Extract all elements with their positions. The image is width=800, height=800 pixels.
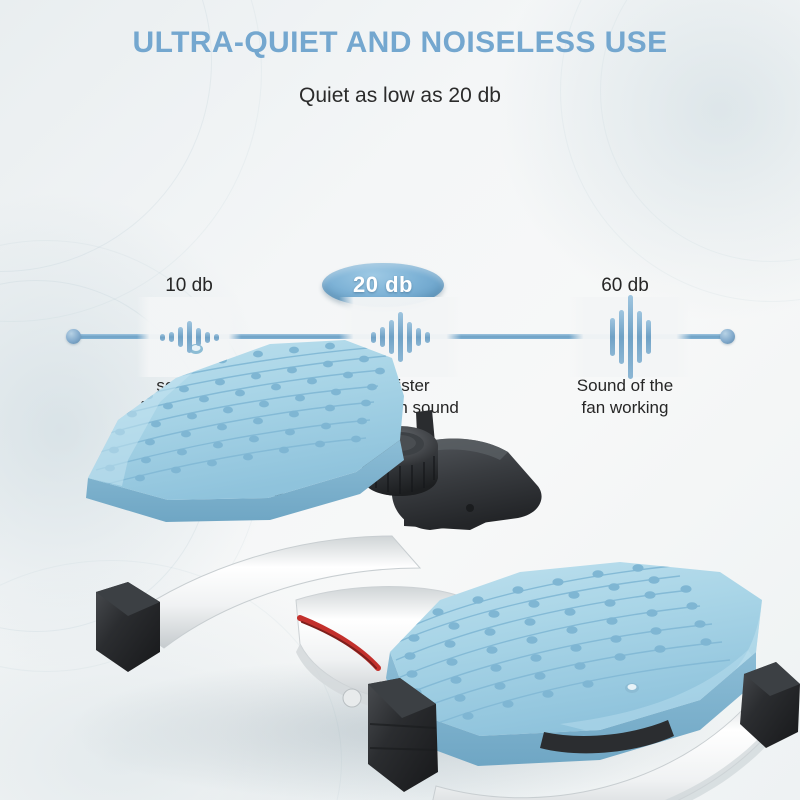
foot-cap-left: [96, 582, 160, 672]
waveform-20db-bar: [398, 312, 403, 362]
cable-anchor: [343, 689, 361, 707]
waveform-20db-bar: [380, 327, 385, 347]
waveform-10db-bar: [187, 321, 192, 353]
page-title: ULTRA-QUIET AND NOISELESS USE: [0, 26, 800, 60]
page-root: ULTRA-QUIET AND NOISELESS USE Quiet as l…: [0, 0, 800, 800]
waveform-60db-bar: [637, 311, 642, 363]
waveform-60db-bar: [610, 318, 615, 356]
pedal-left: [86, 340, 404, 522]
pedal-right-screw: [625, 683, 639, 693]
scale-label-60db: 60 db: [565, 275, 685, 297]
page-subtitle: Quiet as low as 20 db: [0, 84, 800, 108]
waveform-60db-bar: [619, 310, 624, 364]
status-badge-label: 20 db: [353, 272, 413, 298]
waveform-10db-bar: [160, 334, 165, 341]
waveform-20db-bar: [425, 332, 430, 343]
waveform-60db-bar: [628, 295, 633, 379]
waveform-10db-bar: [214, 334, 219, 341]
waveform-20db-bar: [407, 322, 412, 353]
waveform-10db-bar: [196, 328, 201, 346]
scale-label-10db: 10 db: [129, 275, 249, 297]
waveform-10db-bar: [178, 327, 183, 347]
product-image: [0, 300, 800, 800]
waveform-20db-bar: [389, 320, 394, 354]
waveform-20db-bar: [416, 328, 421, 346]
waveform-10db-bar: [205, 332, 210, 343]
waveform-60db-bar: [646, 320, 651, 354]
console-screw: [466, 504, 474, 512]
waveform-10db-bar: [169, 332, 174, 342]
waveform-20db-bar: [371, 332, 376, 343]
decibel-scale: 10 db 60 db 20 db sound of falling leave…: [0, 130, 800, 300]
